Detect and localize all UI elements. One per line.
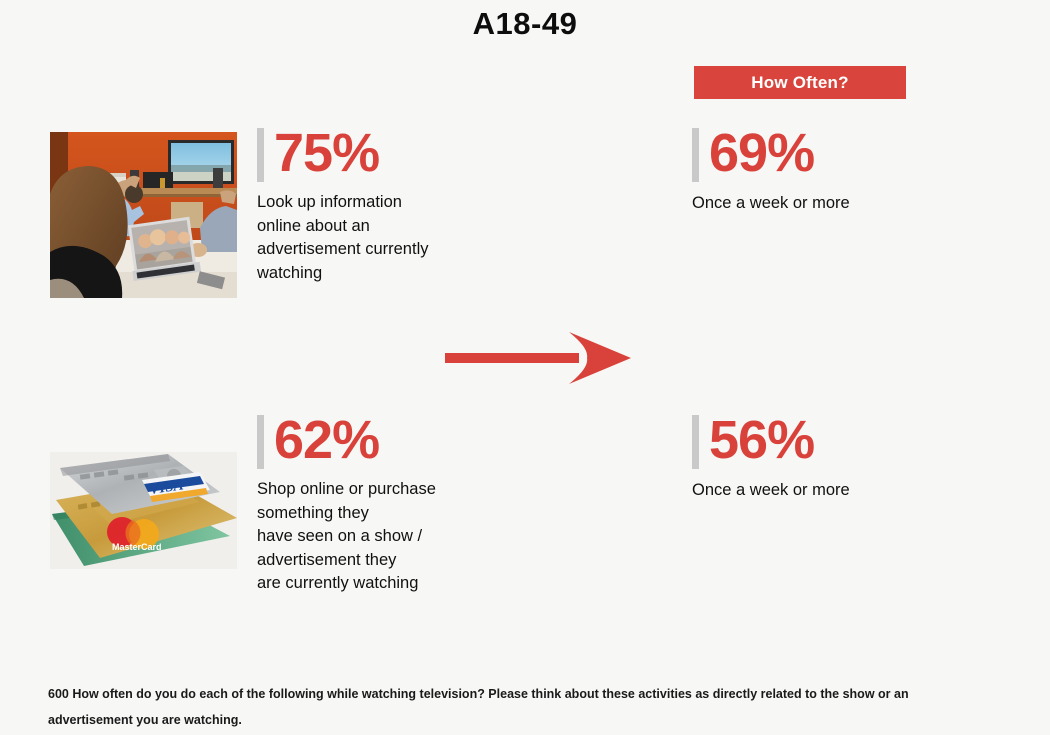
stat-caption-freq-lookup: Once a week or more	[692, 192, 952, 214]
accent-bar-icon	[257, 415, 264, 469]
stat-figure-freq-shop: 56%	[692, 415, 952, 469]
credit-cards-photo: MasterCard VISA	[50, 452, 237, 569]
stat-percent-shop: 62%	[274, 415, 379, 466]
slide-canvas: A18-49 How Often?	[0, 0, 1050, 735]
stat-block-lookup: 75% Look up information online about an …	[257, 128, 472, 285]
accent-bar-icon	[692, 415, 699, 469]
stat-block-shop: 62% Shop online or purchase something th…	[257, 415, 472, 596]
stat-caption-shop: Shop online or purchase something they h…	[257, 478, 472, 596]
stat-caption-freq-shop: Once a week or more	[692, 479, 952, 501]
stat-figure-freq-lookup: 69%	[692, 128, 952, 182]
svg-text:MasterCard: MasterCard	[112, 542, 162, 552]
living-room-watching-tv-photo	[50, 132, 237, 298]
stat-block-freq-shop: 56% Once a week or more	[692, 415, 952, 501]
footnote: 600 How often do you do each of the foll…	[48, 681, 948, 733]
stat-percent-freq-lookup: 69%	[709, 128, 814, 179]
right-arrow-icon	[443, 330, 633, 386]
stat-percent-freq-shop: 56%	[709, 415, 814, 466]
how-often-banner: How Often?	[694, 66, 906, 99]
stat-caption-lookup: Look up information online about an adve…	[257, 191, 472, 285]
how-often-banner-label: How Often?	[751, 73, 848, 93]
accent-bar-icon	[692, 128, 699, 182]
stat-figure-lookup: 75%	[257, 128, 472, 182]
accent-bar-icon	[257, 128, 264, 182]
stat-block-freq-lookup: 69% Once a week or more	[692, 128, 952, 214]
stat-figure-shop: 62%	[257, 415, 472, 469]
page-title: A18-49	[0, 6, 1050, 42]
stat-percent-lookup: 75%	[274, 128, 379, 179]
